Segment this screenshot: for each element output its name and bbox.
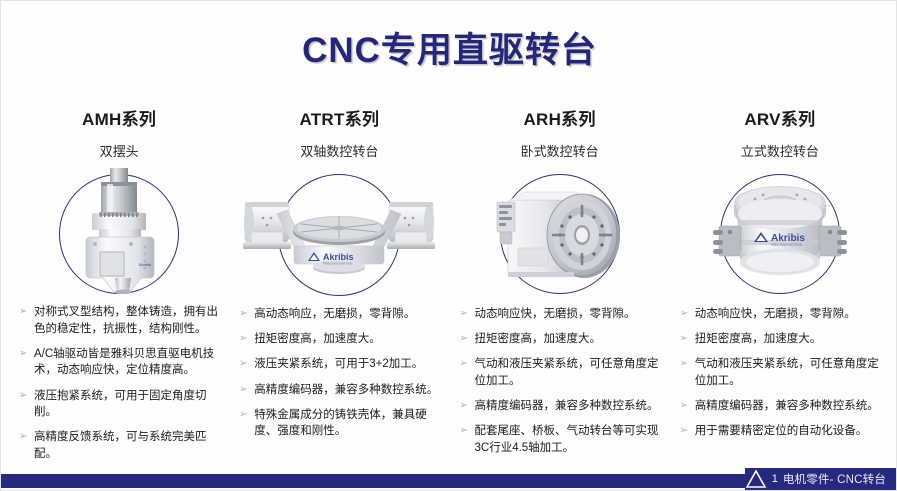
bullet-arrow-icon: ➢ — [239, 356, 254, 372]
bullet-arrow-icon: ➢ — [680, 356, 695, 372]
product-image-zone: Akribis — [13, 168, 225, 295]
feature-text: 高精度反馈系统，可与系统完美匹配。 — [34, 429, 223, 462]
feature-item: ➢ 扭矩密度高，加速度大。 — [460, 331, 664, 347]
feature-list: ➢ 动态响应快，无磨损，零背隙。 ➢ 扭矩密度高，加速度大。 ➢ 气动和液压夹紧… — [674, 306, 886, 449]
product-image-zone: Akribis PRECISION MOTION — [674, 168, 886, 296]
feature-text: 动态响应快，无磨损，零背隙。 — [475, 306, 664, 322]
column-subtitle: 双轴数控转台 — [300, 141, 378, 160]
slide-canvas: CNC专用直驱转台 AMH系列 双摆头 — [0, 0, 897, 491]
bullet-arrow-icon: ➢ — [460, 306, 475, 322]
feature-text: 高精度编码器，兼容多种数控系统。 — [475, 398, 664, 414]
feature-item: ➢ 高精度反馈系统，可与系统完美匹配。 — [19, 429, 223, 462]
product-columns: AMH系列 双摆头 — [9, 111, 890, 471]
bullet-arrow-icon: ➢ — [680, 423, 695, 439]
feature-text: 高动态响应，无磨损，零背隙。 — [254, 306, 443, 322]
footer-label: 电机零件- CNC转台 — [783, 471, 886, 487]
bullet-arrow-icon: ➢ — [239, 306, 254, 322]
product-column-arv[interactable]: ARV系列 立式数控转台 — [670, 111, 890, 471]
bullet-arrow-icon: ➢ — [239, 407, 254, 423]
feature-text: 扭矩密度高，加速度大。 — [695, 331, 884, 347]
product-column-atrt[interactable]: ATRT系列 双轴数控转台 — [229, 111, 449, 471]
feature-item: ➢ 液压夹紧系统，可用于3+2加工。 — [239, 356, 443, 372]
feature-item: ➢ 配套尾座、桥板、气动转台等可实现3C行业4.5轴加工。 — [460, 423, 664, 456]
svg-text:PRECISION MOTION: PRECISION MOTION — [323, 261, 352, 265]
feature-text: 配套尾座、桥板、气动转台等可实现3C行业4.5轴加工。 — [475, 423, 664, 456]
feature-item: ➢ 液压抱紧系统，可用于固定角度切削。 — [19, 388, 223, 421]
column-subtitle: 立式数控转台 — [741, 141, 819, 160]
page-title-container: CNC专用直驱转台 — [1, 33, 897, 68]
feature-list: ➢ 高动态响应，无磨损，零背隙。 ➢ 扭矩密度高，加速度大。 ➢ 液压夹紧系统，… — [233, 306, 445, 449]
feature-item: ➢ 高动态响应，无磨损，零背隙。 — [239, 306, 443, 322]
feature-item: ➢ 扭矩密度高，加速度大。 — [239, 331, 443, 347]
bullet-arrow-icon: ➢ — [460, 423, 475, 439]
feature-text: 特殊金属成分的铸铁壳体，兼具硬度、强度和刚性。 — [254, 407, 443, 440]
feature-text: 高精度编码器，兼容多种数控系统。 — [254, 382, 443, 398]
feature-item: ➢ 扭矩密度高，加速度大。 — [680, 331, 884, 347]
feature-text: 用于需要精密定位的自动化设备。 — [695, 423, 884, 439]
bullet-arrow-icon: ➢ — [239, 382, 254, 398]
svg-text:PRECISION MOTION: PRECISION MOTION — [771, 243, 803, 247]
page-number: 1 — [772, 473, 778, 485]
feature-item: ➢ A/C轴驱动皆是雅科贝思直驱电机技术，动态响应快，定位精度高。 — [19, 346, 223, 379]
feature-text: 高精度编码器，兼容多种数控系统。 — [695, 398, 884, 414]
bullet-arrow-icon: ➢ — [19, 346, 34, 362]
feature-item: ➢ 高精度编码器，兼容多种数控系统。 — [680, 398, 884, 414]
page-title: CNC专用直驱转台 — [302, 33, 597, 68]
product-column-arh[interactable]: ARH系列 卧式数控转台 — [450, 111, 670, 471]
column-subtitle: 双摆头 — [100, 141, 139, 160]
feature-item: ➢ 用于需要精密定位的自动化设备。 — [680, 423, 884, 439]
feature-item: ➢ 特殊金属成分的铸铁壳体，兼具硬度、强度和刚性。 — [239, 407, 443, 440]
horizontal-rotary-table-icon — [496, 176, 624, 288]
bullet-arrow-icon: ➢ — [680, 331, 695, 347]
column-heading: AMH系列 — [82, 111, 156, 130]
feature-text: A/C轴驱动皆是雅科贝思直驱电机技术，动态响应快，定位精度高。 — [34, 346, 223, 379]
feature-list: ➢ 动态响应快，无磨损，零背隙。 ➢ 扭矩密度高，加速度大。 ➢ 气动和液压夹紧… — [454, 306, 666, 465]
feature-text: 气动和液压夹紧系统，可任意角度定位加工。 — [475, 356, 664, 389]
feature-text: 扭矩密度高，加速度大。 — [254, 331, 443, 347]
feature-item: ➢ 动态响应快，无磨损，零背隙。 — [460, 306, 664, 322]
bullet-arrow-icon: ➢ — [19, 388, 34, 404]
bullet-arrow-icon: ➢ — [460, 356, 475, 372]
vertical-rotary-table-icon: Akribis PRECISION MOTION — [713, 178, 847, 286]
product-column-amh[interactable]: AMH系列 双摆头 — [9, 111, 229, 471]
product-image-zone — [454, 168, 666, 296]
feature-item: ➢ 高精度编码器，兼容多种数控系统。 — [239, 382, 443, 398]
feature-item: ➢ 高精度编码器，兼容多种数控系统。 — [460, 398, 664, 414]
bullet-arrow-icon: ➢ — [460, 331, 475, 347]
feature-text: 液压夹紧系统，可用于3+2加工。 — [254, 356, 443, 372]
feature-item: ➢ 动态响应快，无磨损，零背隙。 — [680, 306, 884, 322]
akribis-triangle-logo-icon — [745, 468, 767, 490]
feature-text: 动态响应快，无磨损，零背隙。 — [695, 306, 884, 322]
feature-list: ➢ 对称式叉型结构，整体铸造，拥有出色的稳定性，抗振性，结构刚性。 ➢ A/C轴… — [13, 304, 225, 471]
column-subtitle: 卧式数控转台 — [521, 141, 599, 160]
bullet-arrow-icon: ➢ — [19, 429, 34, 445]
feature-item: ➢ 对称式叉型结构，整体铸造，拥有出色的稳定性，抗振性，结构刚性。 — [19, 304, 223, 337]
bullet-arrow-icon: ➢ — [460, 398, 475, 414]
feature-text: 气动和液压夹紧系统，可任意角度定位加工。 — [695, 356, 884, 389]
dual-axis-trunnion-table-icon: Akribis PRECISION MOTION — [241, 180, 437, 284]
column-heading: ARH系列 — [523, 111, 595, 130]
bullet-arrow-icon: ➢ — [680, 398, 695, 414]
product-image-zone: Akribis PRECISION MOTION — [233, 168, 445, 296]
bullet-arrow-icon: ➢ — [680, 306, 695, 322]
svg-text:Akribis: Akribis — [323, 252, 354, 262]
feature-text: 扭矩密度高，加速度大。 — [475, 331, 664, 347]
feature-text: 液压抱紧系统，可用于固定角度切削。 — [34, 388, 223, 421]
feature-text: 对称式叉型结构，整体铸造，拥有出色的稳定性，抗振性，结构刚性。 — [34, 304, 223, 337]
feature-item: ➢ 气动和液压夹紧系统，可任意角度定位加工。 — [680, 356, 884, 389]
bullet-arrow-icon: ➢ — [239, 331, 254, 347]
bullet-arrow-icon: ➢ — [19, 304, 34, 320]
feature-item: ➢ 气动和液压夹紧系统，可任意角度定位加工。 — [460, 356, 664, 389]
svg-text:Akribis: Akribis — [139, 262, 151, 267]
dual-swivel-head-icon: Akribis — [63, 168, 175, 294]
column-heading: ARV系列 — [744, 111, 815, 130]
footer-brand-strip: 1 电机零件- CNC转台 — [745, 468, 896, 490]
column-heading: ATRT系列 — [299, 111, 379, 130]
